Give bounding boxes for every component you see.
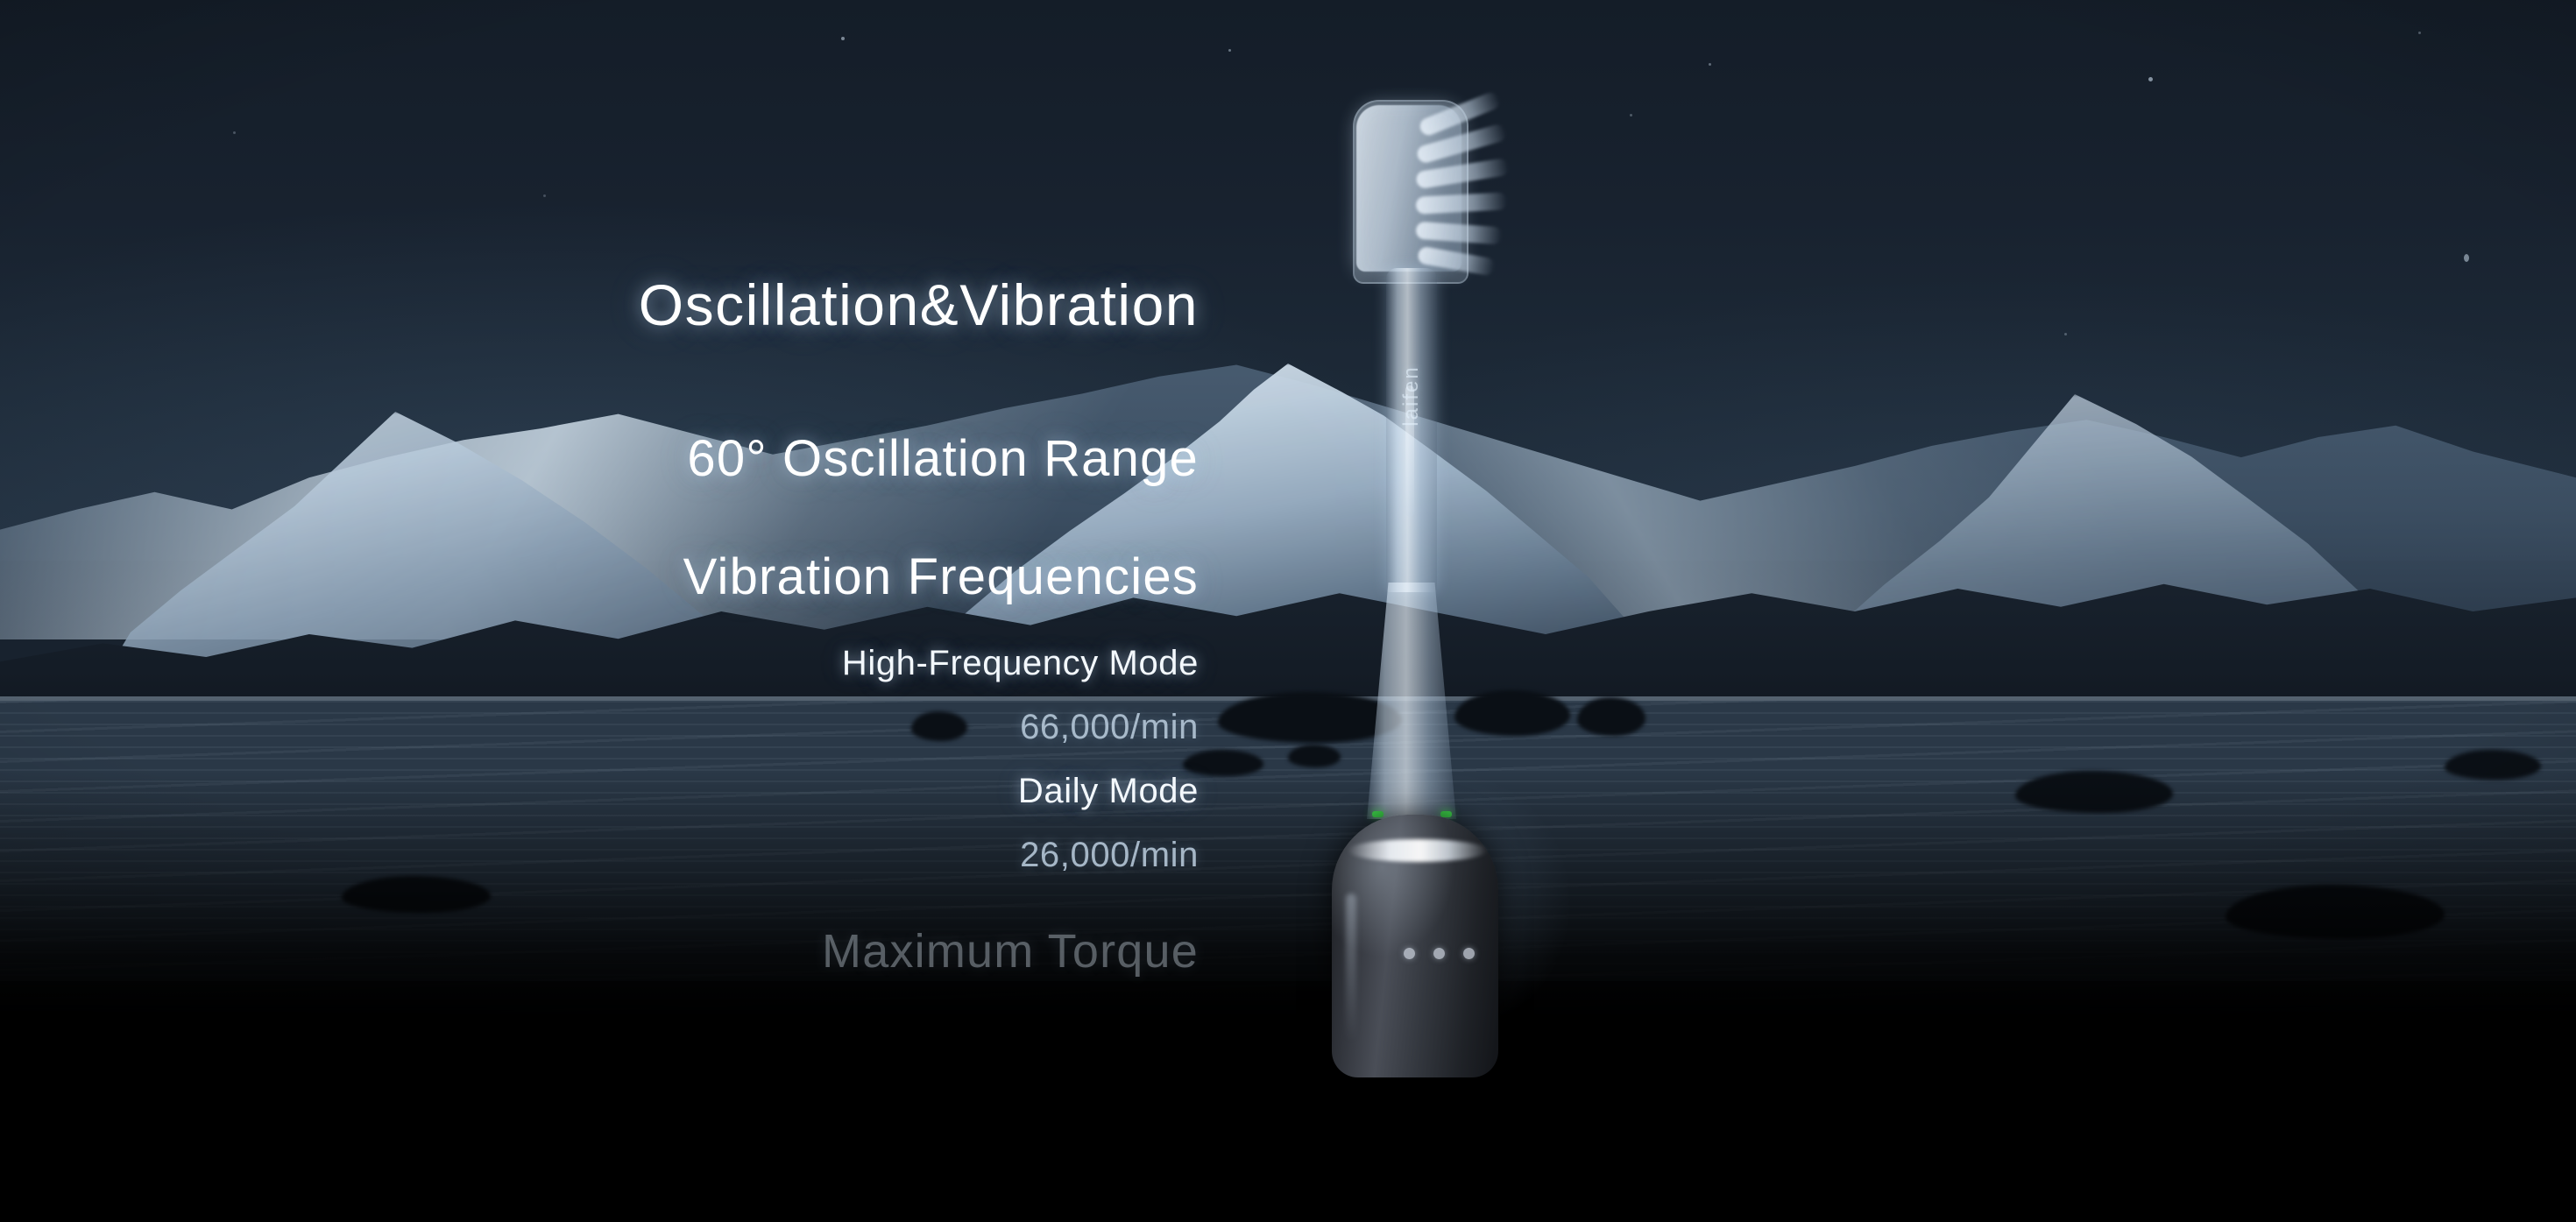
mode-indicator-dots — [1404, 948, 1475, 959]
mode-dot — [1404, 948, 1415, 959]
handle-specular-highlight — [1348, 839, 1488, 862]
subhead-maximum-torque: Maximum Torque — [822, 924, 1199, 978]
led-indicator-left — [1372, 811, 1384, 817]
subhead-vibration-frequencies: Vibration Frequencies — [683, 547, 1199, 606]
video-frame: laifen Oscillation&Vibration 60° Oscilla… — [0, 0, 2576, 1222]
brush-taper — [1367, 583, 1456, 819]
mode-label-daily: Daily Mode — [1018, 772, 1199, 811]
mode-dot — [1463, 948, 1475, 959]
subhead-oscillation-range: 60° Oscillation Range — [687, 429, 1199, 488]
headline-oscillation-vibration: Oscillation&Vibration — [639, 272, 1199, 338]
brand-logo: laifen — [1399, 365, 1424, 427]
mode-value-high-frequency: 66,000/min — [1020, 708, 1199, 747]
electric-toothbrush: laifen — [1341, 105, 1568, 1016]
brush-head-housing — [1353, 100, 1468, 284]
mode-label-high-frequency: High-Frequency Mode — [842, 644, 1199, 683]
mode-dot — [1433, 948, 1445, 959]
handle-edge-light — [1346, 894, 1356, 1042]
letterbox-bar — [0, 981, 2576, 1222]
background-scene — [0, 0, 2576, 1034]
mode-value-daily: 26,000/min — [1020, 836, 1199, 875]
